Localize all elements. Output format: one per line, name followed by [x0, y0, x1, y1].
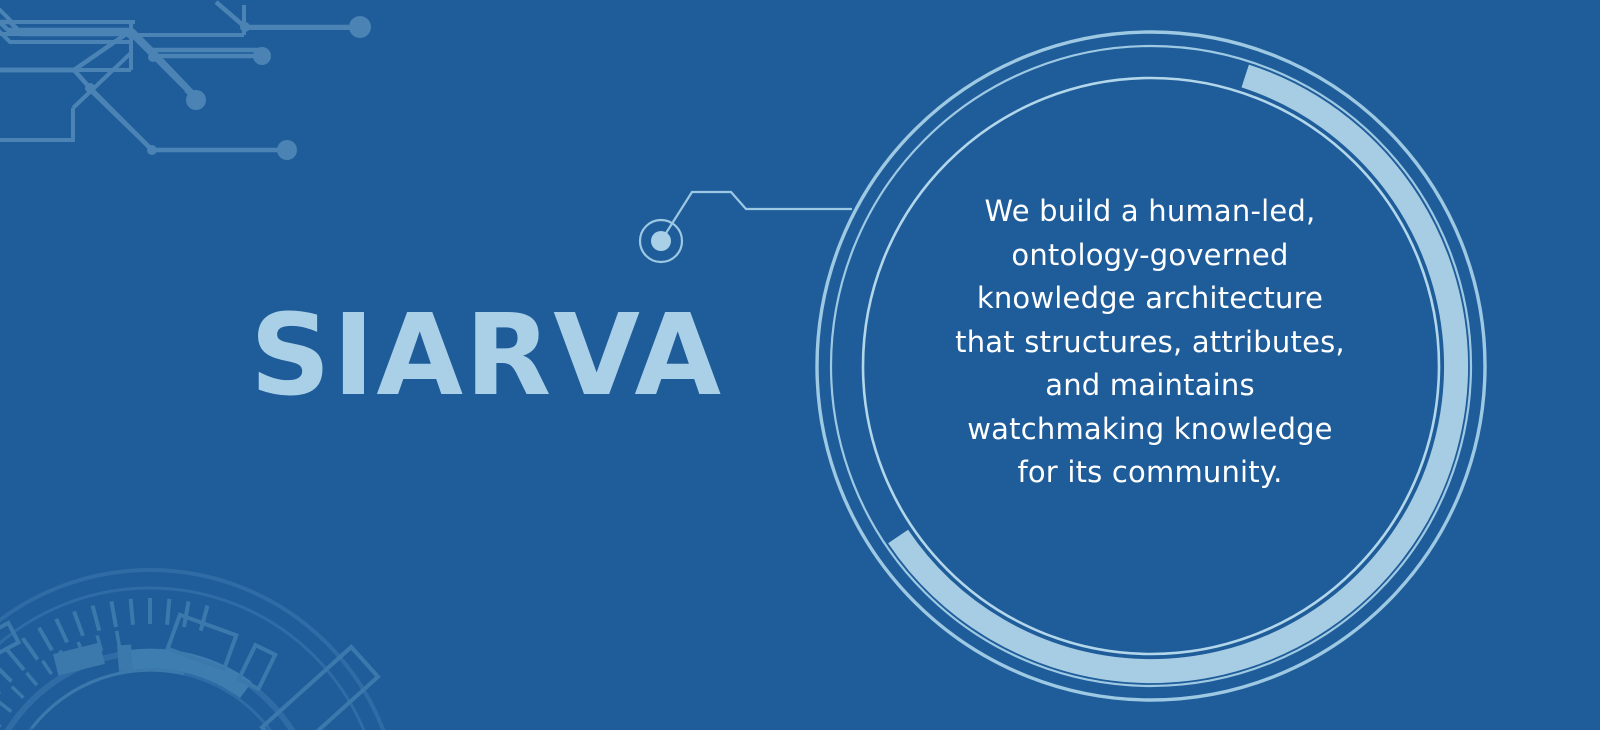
- hero-banner: SIARVA We build a human-led, ontology-go…: [0, 0, 1600, 730]
- statement-line-6: watchmaking knowledge: [930, 408, 1370, 452]
- wordmark: SIARVA: [250, 300, 870, 412]
- statement-line-4: that structures, attributes,: [930, 321, 1370, 365]
- statement-line-3: knowledge architecture: [930, 277, 1370, 321]
- statement-line-5: and maintains: [930, 364, 1370, 408]
- statement-line-7: for its community.: [930, 451, 1370, 495]
- brand-block: SIARVA: [250, 300, 870, 412]
- statement-line-1: We build a human-led,: [930, 190, 1370, 234]
- mission-statement: We build a human-led, ontology-governed …: [930, 190, 1370, 495]
- statement-line-2: ontology-governed: [930, 234, 1370, 278]
